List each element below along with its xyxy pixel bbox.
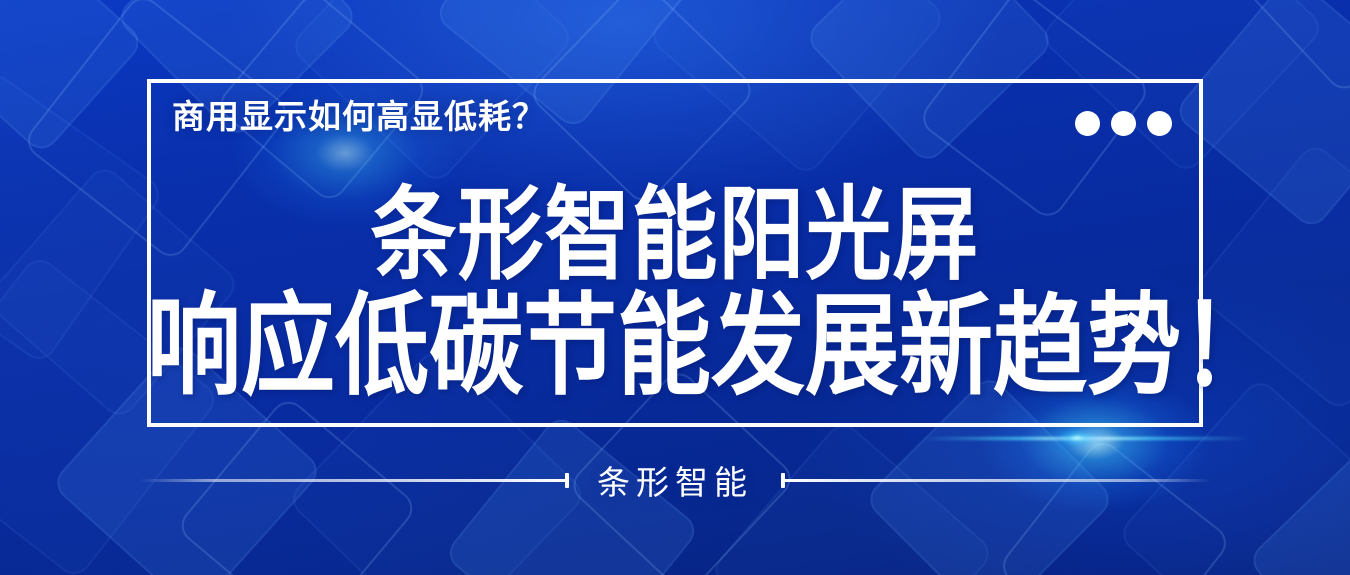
title-line-2: 响应低碳节能发展新趋势！ (147, 292, 1203, 401)
dot-icon (1111, 111, 1136, 136)
brand-footer: 条形智能 (0, 456, 1350, 504)
banner-title: 条形智能阳光屏 响应低碳节能发展新趋势！ (147, 186, 1203, 384)
dot-icon (1147, 111, 1172, 136)
banner-subtitle: 商用显示如何高显低耗？ (172, 100, 546, 133)
brand-name: 条形智能 (569, 456, 781, 504)
dot-icon (1075, 111, 1100, 136)
divider-line-left (139, 472, 569, 488)
title-line-1: 条形智能阳光屏 (147, 186, 1203, 285)
divider-line-right (781, 472, 1211, 488)
promo-banner: 商用显示如何高显低耗？ 条形智能阳光屏 响应低碳节能发展新趋势！ 条形智能 (0, 0, 1350, 575)
decorative-dots (1075, 111, 1172, 136)
